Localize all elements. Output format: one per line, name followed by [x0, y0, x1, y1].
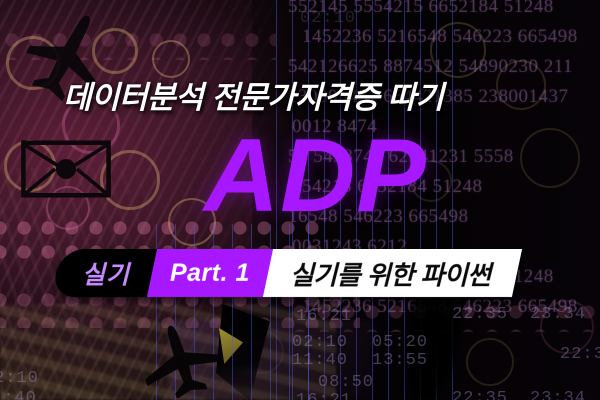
badge-subtitle-label: 실기를 위한 파이썬: [290, 255, 491, 292]
badge-subtitle: 실기를 위한 파이썬: [263, 249, 522, 297]
promo-banner: 552145 5554215 6652184 51248 1452236 521…: [0, 0, 600, 400]
badge-banner: 실기 Part. 1 실기를 위한 파이썬: [51, 249, 522, 297]
ring-decoration: [240, 330, 284, 374]
clock-time: 23:34: [530, 388, 586, 400]
clock-time: 2:10: [0, 368, 39, 390]
clock-time: 22:35: [452, 388, 508, 400]
ring-decoration: [466, 338, 514, 386]
adp-logo: ADP: [204, 124, 427, 228]
clock-time: 22:35: [560, 344, 600, 366]
envelope-icon: [20, 140, 112, 198]
clock-time: 11:40: [292, 350, 348, 372]
badge-part-label: Part. 1: [170, 259, 250, 288]
clock-time: 13:55: [372, 350, 428, 372]
clock-time: 02:10: [300, 8, 356, 30]
page-title: 데이터분석 전문가자격증 따기: [63, 72, 444, 117]
clock-time: 16:21: [296, 306, 352, 328]
clock-time: 16:21: [296, 390, 352, 400]
badge-type: 실기: [51, 249, 157, 297]
clock-time: 23:34: [530, 304, 586, 326]
clock-time: 1:40: [0, 388, 37, 400]
badge-type-label: 실기: [82, 255, 130, 291]
airplane-icon: [118, 318, 238, 398]
badge-part: Part. 1: [147, 249, 273, 297]
clock-time: 22:35: [452, 304, 508, 326]
